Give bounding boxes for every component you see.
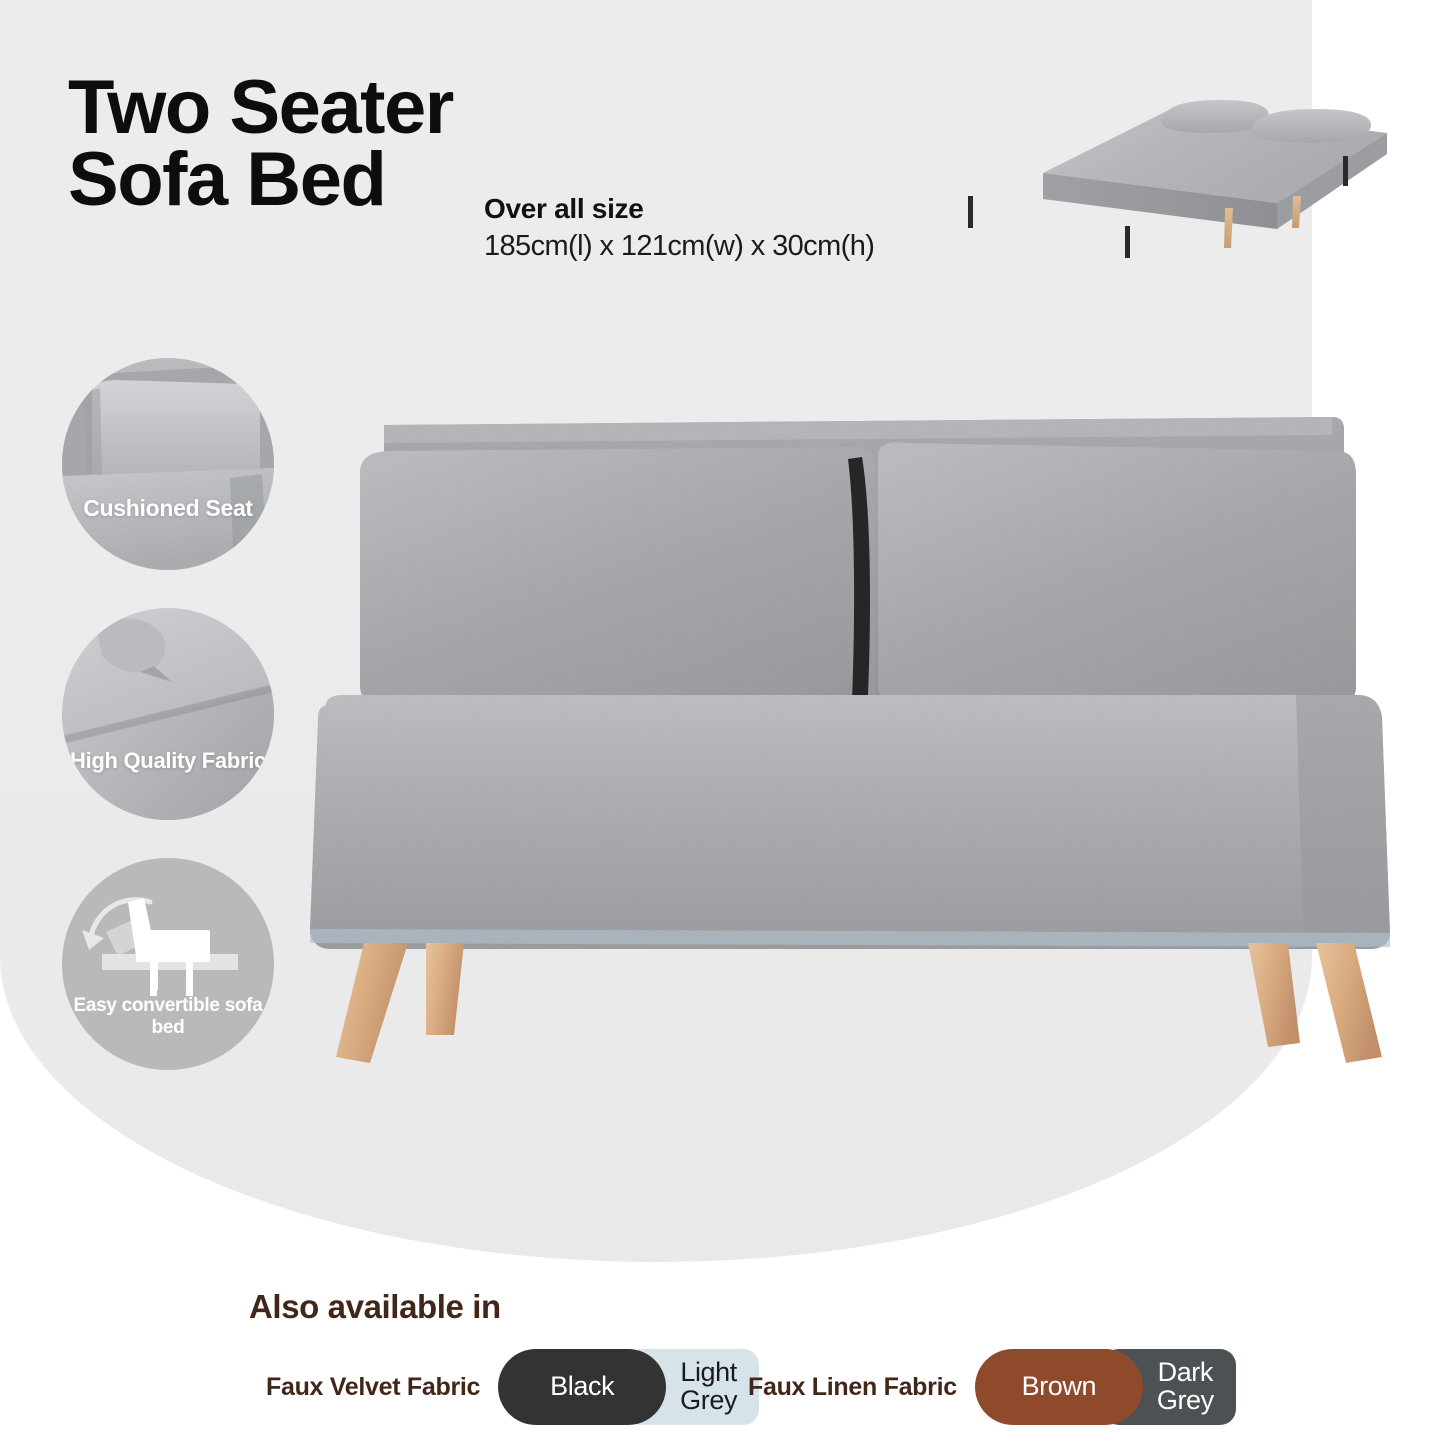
overall-size-label: Over all size bbox=[484, 192, 874, 226]
feature-badge-high-quality-fabric: High Quality Fabric bbox=[62, 608, 274, 820]
overall-size-block: Over all size 185cm(l) x 121cm(w) x 30cm… bbox=[484, 192, 874, 263]
product-poster: Two Seater Sofa Bed Over all size 185cm(… bbox=[0, 0, 1445, 1446]
swatch-black[interactable]: Black bbox=[498, 1349, 666, 1425]
convertible-sofa-icon bbox=[62, 858, 274, 1070]
page-title: Two Seater Sofa Bed bbox=[68, 72, 453, 216]
feature-badge-cushioned-seat: Cushioned Seat bbox=[62, 358, 274, 570]
swatch-pair-faux-linen: Dark Grey Brown bbox=[975, 1349, 1236, 1425]
swatch-brown[interactable]: Brown bbox=[975, 1349, 1143, 1425]
feature-badge-easy-convertible: Easy convertible sofa bed bbox=[62, 858, 274, 1070]
swatch-pair-faux-velvet: Light Grey Black bbox=[498, 1349, 759, 1425]
fabric-label-faux-velvet: Faux Velvet Fabric bbox=[266, 1373, 480, 1401]
cushioned-seat-photo bbox=[62, 358, 274, 570]
fabric-group-faux-velvet: Faux Velvet Fabric Light Grey Black bbox=[266, 1349, 759, 1425]
overall-size-value: 185cm(l) x 121cm(w) x 30cm(h) bbox=[484, 230, 874, 263]
fabric-closeup-photo bbox=[62, 608, 274, 820]
fabric-group-faux-linen: Faux Linen Fabric Dark Grey Brown bbox=[748, 1349, 1236, 1425]
sofa-bed-flat-image bbox=[925, 78, 1405, 293]
also-available-heading: Also available in bbox=[249, 1288, 501, 1326]
headline-line-2: Sofa Bed bbox=[68, 137, 385, 222]
fabric-label-faux-linen: Faux Linen Fabric bbox=[748, 1373, 957, 1401]
two-seater-sofa-image bbox=[296, 395, 1416, 1095]
